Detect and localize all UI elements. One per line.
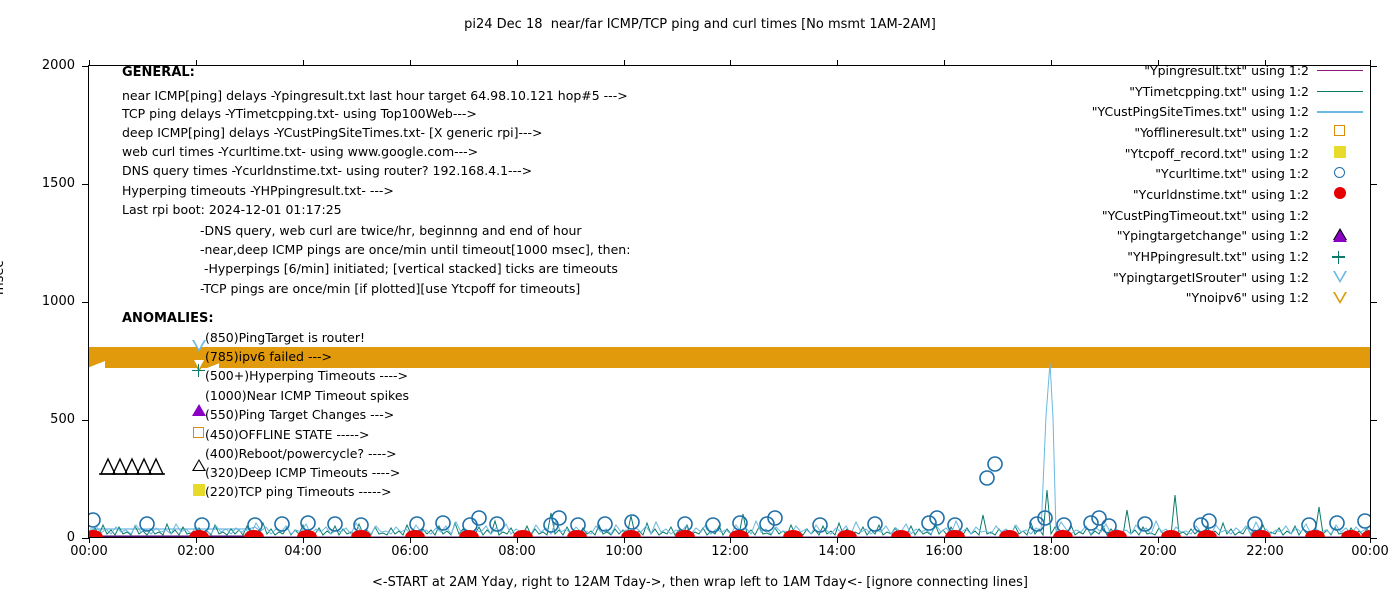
- ytick-r-500: [1370, 420, 1377, 421]
- general-note-3: -TCP pings are once/min [if plotted][use…: [200, 279, 580, 300]
- anomaly-icon-offline-state: [193, 427, 204, 438]
- general-line-3: web curl times -Ycurltime.txt- using www…: [122, 142, 478, 163]
- xtick-label-9: 18:00: [1032, 544, 1069, 559]
- legend-row: "YCustPingSiteTimes.txt" using 1:2: [1092, 101, 1371, 122]
- legend-row: "YHPpingresult.txt" using 1:2: [1092, 246, 1371, 267]
- x-axis-title: <-START at 2AM Yday, right to 12AM Tday-…: [0, 575, 1400, 590]
- xtick-top-5: [624, 60, 625, 66]
- xtick-label-8: 16:00: [925, 544, 962, 559]
- general-note-2: -Hyperpings [6/min] initiated; [vertical…: [200, 259, 618, 280]
- legend-key-line: [1309, 81, 1371, 101]
- anomaly-label-5: (450)OFFLINE STATE ----->: [205, 425, 369, 446]
- legend-row: "Ycurltime.txt" using 1:2: [1092, 163, 1371, 184]
- legend-key-square-fill-icon: [1309, 143, 1371, 163]
- ytick-r-2000: [1370, 66, 1377, 67]
- anomaly-label-2: (500+)Hyperping Timeouts ---->: [205, 366, 408, 387]
- legend-key-line: [1309, 60, 1371, 80]
- ytick-r-1000: [1370, 302, 1377, 303]
- anomaly-label-0: (850)PingTarget is router!: [205, 328, 365, 349]
- xtick-11: [1265, 537, 1266, 543]
- anomaly-label-1: (785)ipv6 failed --->: [205, 347, 332, 368]
- anomaly-label-3: (1000)Near ICMP Timeout spikes: [205, 386, 409, 407]
- legend-label: "YCustPingTimeout.txt" using 1:2: [1102, 208, 1309, 223]
- legend-label: "Yofflineresult.txt" using 1:2: [1134, 125, 1309, 140]
- xtick-3: [410, 537, 411, 543]
- xtick-7: [837, 537, 838, 543]
- xtick-top-0: [89, 60, 90, 66]
- legend-key-square-open-icon: [1309, 122, 1371, 142]
- xtick-top-8: [944, 60, 945, 66]
- ytick-2000: [82, 66, 89, 67]
- xtick-1: [196, 537, 197, 543]
- general-line-6: Last rpi boot: 2024-12-01 01:17:25: [122, 200, 342, 221]
- legend-row: "Ypingresult.txt" using 1:2: [1092, 60, 1371, 81]
- ytick-r-1500: [1370, 184, 1377, 185]
- ytick-label-2000: 2000: [15, 58, 75, 73]
- ytick-1000: [82, 302, 89, 303]
- legend-label: "YpingtargetISrouter" using 1:2: [1113, 270, 1309, 285]
- legend-label: "Ynoipv6" using 1:2: [1186, 290, 1309, 305]
- legend-row: "Ytcpoff_record.txt" using 1:2: [1092, 143, 1371, 164]
- legend-label: "Ycurltime.txt" using 1:2: [1155, 166, 1309, 181]
- legend-label: "Ycurldnstime.txt" using 1:2: [1133, 187, 1309, 202]
- xtick-5: [624, 537, 625, 543]
- ytick-1500: [82, 184, 89, 185]
- legend-key-triangle-up-fill-icon: [1309, 226, 1371, 246]
- legend-key-plus-icon: [1309, 247, 1371, 267]
- xtick-4: [517, 537, 518, 543]
- legend-row: "Ynoipv6" using 1:2: [1092, 288, 1371, 309]
- ytick-label-1500: 1500: [15, 176, 75, 191]
- xtick-label-10: 20:00: [1139, 544, 1176, 559]
- legend: "Ypingresult.txt" using 1:2 "YTimetcppin…: [1092, 60, 1371, 308]
- xtick-top-4: [517, 60, 518, 66]
- xtick-label-3: 06:00: [391, 544, 428, 559]
- legend-row: "YpingtargetISrouter" using 1:2: [1092, 267, 1371, 288]
- xtick-top-1: [196, 60, 197, 66]
- anomaly-label-7: (320)Deep ICMP Timeouts ---->: [205, 463, 400, 484]
- xtick-8: [944, 537, 945, 543]
- xtick-label-2: 04:00: [284, 544, 321, 559]
- legend-label: "YHPpingresult.txt" using 1:2: [1127, 249, 1309, 264]
- ytick-500: [82, 420, 89, 421]
- xtick-top-2: [303, 60, 304, 66]
- general-heading: GENERAL:: [122, 63, 195, 84]
- anomaly-icon-hyperping-timeouts: [192, 364, 205, 377]
- xtick-0: [89, 537, 90, 543]
- legend-row: "Ycurldnstime.txt" using 1:2: [1092, 184, 1371, 205]
- ytick-label-0: 0: [15, 530, 75, 545]
- general-line-4: DNS query times -Ycurldnstime.txt- using…: [122, 161, 532, 182]
- general-line-2: deep ICMP[ping] delays -YCustPingSiteTim…: [122, 123, 543, 144]
- legend-row: "YTimetcpping.txt" using 1:2: [1092, 81, 1371, 102]
- xtick-10: [1158, 537, 1159, 543]
- legend-key-line: [1309, 102, 1371, 122]
- xtick-9: [1051, 537, 1052, 543]
- general-note-1: -near,deep ICMP pings are once/min until…: [200, 240, 630, 261]
- legend-label: "YCustPingSiteTimes.txt" using 1:2: [1092, 104, 1309, 119]
- xtick-label-7: 14:00: [818, 544, 855, 559]
- anomaly-label-6: (400)Reboot/powercycle? ---->: [205, 444, 397, 465]
- legend-key-circle-fill-icon: [1309, 184, 1371, 204]
- chart-title: pi24 Dec 18 near/far ICMP/TCP ping and c…: [0, 17, 1400, 32]
- legend-row: "Ypingtargetchange" using 1:2: [1092, 226, 1371, 247]
- ytick-label-1000: 1000: [15, 294, 75, 309]
- xtick-2: [303, 537, 304, 543]
- legend-row: "YCustPingTimeout.txt" using 1:2: [1092, 205, 1371, 226]
- general-note-0: -DNS query, web curl are twice/hr, begin…: [200, 221, 582, 242]
- legend-label: "Ypingtargetchange" using 1:2: [1117, 228, 1309, 243]
- anomaly-icon-tcp-ping-timeouts: [193, 484, 205, 496]
- legend-row: "Yofflineresult.txt" using 1:2: [1092, 122, 1371, 143]
- ytick-0: [82, 538, 89, 539]
- xtick-label-1: 02:00: [177, 544, 214, 559]
- xtick-label-11: 22:00: [1246, 544, 1283, 559]
- xtick-label-4: 08:00: [498, 544, 535, 559]
- legend-label: "Ytcpoff_record.txt" using 1:2: [1125, 146, 1309, 161]
- xtick-label-5: 10:00: [605, 544, 642, 559]
- anomaly-label-4: (550)Ping Target Changes --->: [205, 405, 394, 426]
- xtick-top-7: [837, 60, 838, 66]
- xtick-top-6: [730, 60, 731, 66]
- legend-key-triangle-up-open-icon: [1309, 205, 1371, 225]
- xtick-label-12: 00:00: [1351, 544, 1388, 559]
- anomaly-icon-pingtarget-changes: [192, 404, 206, 416]
- xtick-label-6: 12:00: [711, 544, 748, 559]
- xtick-top-9: [1051, 60, 1052, 66]
- xtick-top-3: [410, 60, 411, 66]
- chart-page: pi24 Dec 18 near/far ICMP/TCP ping and c…: [0, 0, 1400, 600]
- legend-key-triangle-down-orange-icon: [1309, 288, 1371, 308]
- xtick-label-0: 00:00: [70, 544, 107, 559]
- xtick-6: [730, 537, 731, 543]
- xtick-12: [1370, 537, 1371, 543]
- ytick-r-0: [1370, 538, 1377, 539]
- anomaly-label-8: (220)TCP ping Timeouts ----->: [205, 482, 392, 503]
- legend-key-triangle-down-blue-icon: [1309, 267, 1371, 287]
- anomaly-icon-pingtarget-router: [192, 340, 206, 352]
- general-line-1: TCP ping delays -YTimetcpping.txt- using…: [122, 104, 477, 125]
- general-line-5: Hyperping timeouts -YHPpingresult.txt- -…: [122, 181, 394, 202]
- anomaly-icon-deep-icmp-timeouts: [192, 459, 206, 471]
- ytick-label-500: 500: [15, 412, 75, 427]
- y-axis-title: msec: [0, 260, 7, 295]
- anomalies-heading: ANOMALIES:: [122, 309, 214, 330]
- legend-key-circle-open-icon: [1309, 164, 1371, 184]
- legend-label: "Ypingresult.txt" using 1:2: [1144, 63, 1309, 78]
- legend-label: "YTimetcpping.txt" using 1:2: [1129, 84, 1309, 99]
